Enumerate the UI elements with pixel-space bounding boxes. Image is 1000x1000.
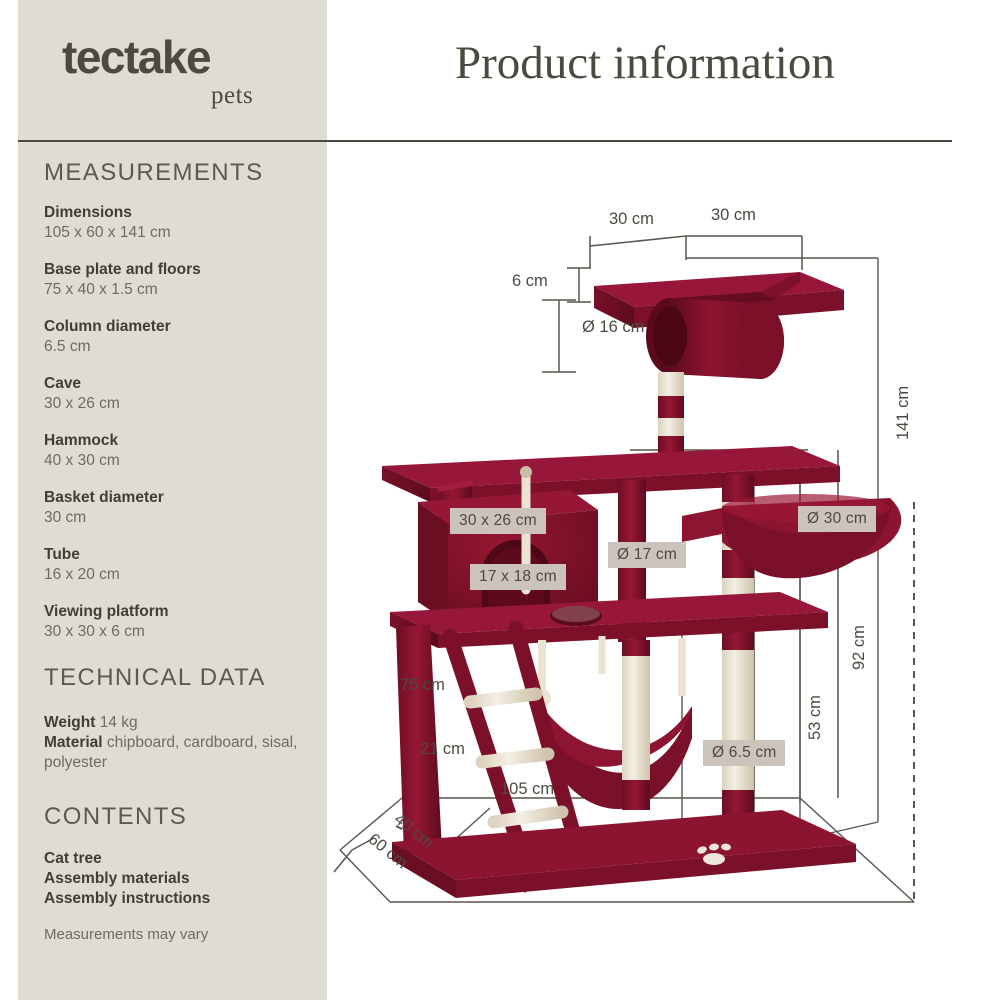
spec-value: 30 x 26 cm — [44, 394, 120, 414]
cat-tree-illustration — [330, 150, 1000, 1000]
sidebar-content: MEASUREMENTS Dimensions 105 x 60 x 141 c… — [18, 141, 327, 1000]
label-basket-diameter: Ø 30 cm — [798, 506, 876, 532]
spec-column-diameter: Column diameter 6.5 cm — [44, 317, 171, 357]
weight-label: Weight — [44, 714, 95, 731]
list-item: Assembly instructions — [44, 889, 210, 909]
dim-total-width: 105 cm — [500, 780, 554, 799]
dim-low-height: 53 cm — [806, 695, 825, 740]
spec-label: Basket diameter — [44, 488, 164, 508]
material-row: Material chipboard, cardboard, sisal, po… — [44, 733, 309, 773]
contents-heading: CONTENTS — [44, 803, 187, 831]
spec-value: 6.5 cm — [44, 337, 171, 357]
spec-label: Hammock — [44, 431, 120, 451]
dim-base-width: 75 cm — [400, 676, 445, 695]
weight-row: Weight 14 kg — [44, 713, 309, 733]
page-title: Product information — [455, 36, 975, 90]
dim-platform-thickness: 6 cm — [512, 272, 548, 291]
material-label: Material — [44, 734, 103, 751]
label-cave-entry: 17 x 18 cm — [470, 564, 566, 590]
dim-ladder-offset: 21 cm — [420, 740, 465, 759]
technical-data-block: Weight 14 kg Material chipboard, cardboa… — [44, 713, 309, 773]
list-item: Assembly materials — [44, 869, 210, 889]
base-plate — [392, 810, 856, 898]
brand-block: tectake pets — [18, 0, 327, 141]
product-diagram: 30 x 26 cm 17 x 18 cm Ø 17 cm Ø 30 cm Ø … — [330, 150, 1000, 1000]
spec-dimensions: Dimensions 105 x 60 x 141 cm — [44, 203, 171, 243]
dim-top-platform-right: 30 cm — [711, 206, 756, 225]
spec-value: 30 cm — [44, 508, 164, 528]
brand-sublabel: pets — [211, 82, 253, 110]
list-item: Cat tree — [44, 849, 210, 869]
label-cave-outer: 30 x 26 cm — [450, 508, 546, 534]
spec-label: Cave — [44, 374, 120, 394]
dim-total-height: 141 cm — [894, 386, 913, 440]
spec-base-plate: Base plate and floors 75 x 40 x 1.5 cm — [44, 260, 201, 300]
dim-top-platform-left: 30 cm — [609, 210, 654, 229]
spec-cave: Cave 30 x 26 cm — [44, 374, 120, 414]
label-hole-diameter: Ø 17 cm — [608, 542, 686, 568]
upper-column — [658, 372, 684, 462]
measurements-heading: MEASUREMENTS — [44, 159, 264, 187]
contents-list: Cat tree Assembly materials Assembly ins… — [44, 849, 210, 909]
spec-tube: Tube 16 x 20 cm — [44, 545, 120, 585]
spec-basket-diameter: Basket diameter 30 cm — [44, 488, 164, 528]
brand-logo: tectake — [62, 34, 210, 80]
spec-viewing-platform: Viewing platform 30 x 30 x 6 cm — [44, 602, 169, 642]
spec-value: 105 x 60 x 141 cm — [44, 223, 171, 243]
spec-value: 16 x 20 cm — [44, 565, 120, 585]
weight-value: 14 kg — [100, 714, 138, 731]
tube — [646, 298, 784, 379]
spec-value: 40 x 30 cm — [44, 451, 120, 471]
dim-tube-diameter: Ø 16 cm — [582, 318, 644, 337]
dim-mid-height: 92 cm — [850, 625, 869, 670]
technical-data-heading: TECHNICAL DATA — [44, 664, 266, 692]
spec-label: Viewing platform — [44, 602, 169, 622]
spec-label: Dimensions — [44, 203, 171, 223]
measurements-footnote: Measurements may vary — [44, 926, 208, 943]
spec-label: Tube — [44, 545, 120, 565]
spec-label: Column diameter — [44, 317, 171, 337]
spec-hammock: Hammock 40 x 30 cm — [44, 431, 120, 471]
spec-value: 30 x 30 x 6 cm — [44, 622, 169, 642]
spec-label: Base plate and floors — [44, 260, 201, 280]
front-right-post — [622, 640, 650, 810]
spec-value: 75 x 40 x 1.5 cm — [44, 280, 201, 300]
label-column-diameter: Ø 6.5 cm — [703, 740, 785, 766]
